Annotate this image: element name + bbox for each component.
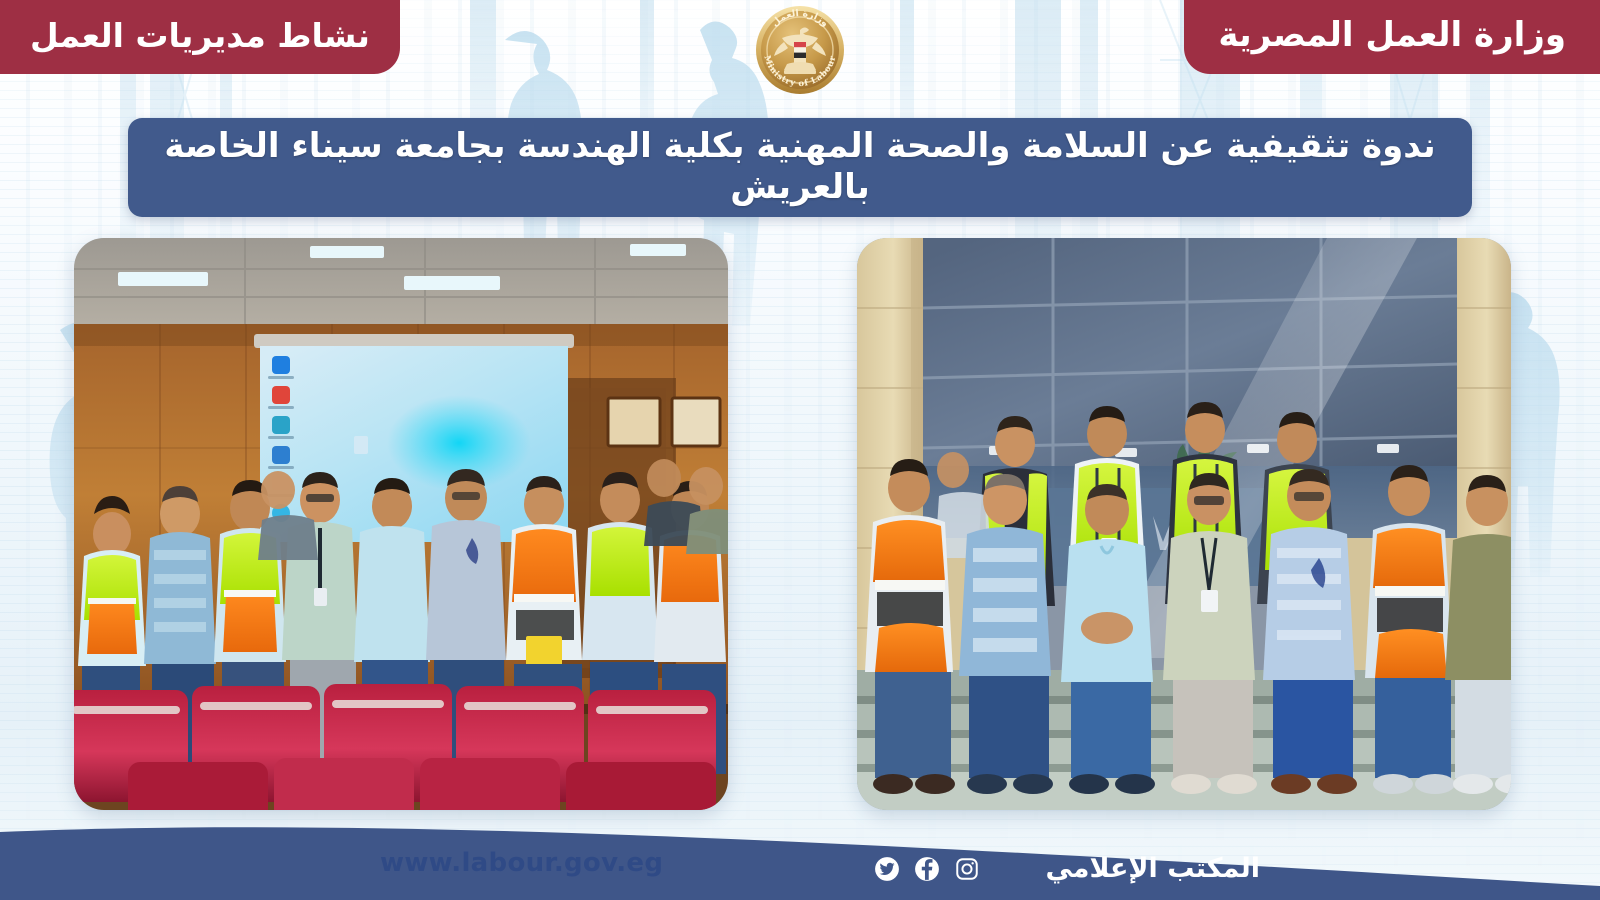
seminar-hall-photo-content: [74, 238, 728, 810]
media-office-label: المكتب الإعلامي: [1045, 853, 1260, 884]
social-links[interactable]: [874, 856, 980, 882]
university-entrance-group-photo: [857, 238, 1511, 810]
university-entrance-photo-content: [857, 238, 1511, 810]
ministry-seal-logo: وزارة العمل Ministry of Labour: [740, 2, 860, 102]
directorates-activity-ribbon: نشاط مديريات العمل: [0, 0, 400, 74]
ministry-name-label: وزارة العمل المصرية: [1218, 15, 1566, 55]
instagram-icon[interactable]: [954, 856, 980, 882]
page-title: ندوة تثقيفية عن السلامة والصحة المهنية ب…: [154, 126, 1446, 209]
seminar-hall-group-photo: [74, 238, 728, 810]
headline-bar: ندوة تثقيفية عن السلامة والصحة المهنية ب…: [128, 118, 1472, 217]
facebook-icon[interactable]: [914, 856, 940, 882]
footer-band: [0, 810, 1600, 900]
twitter-icon[interactable]: [874, 856, 900, 882]
directorates-activity-label: نشاط مديريات العمل: [30, 16, 370, 55]
poster-canvas: وزارة العمل المصرية نشاط مديريات العمل: [0, 0, 1600, 900]
ministry-name-ribbon: وزارة العمل المصرية: [1184, 0, 1600, 74]
website-url[interactable]: www.labour.gov.eg: [380, 848, 663, 878]
